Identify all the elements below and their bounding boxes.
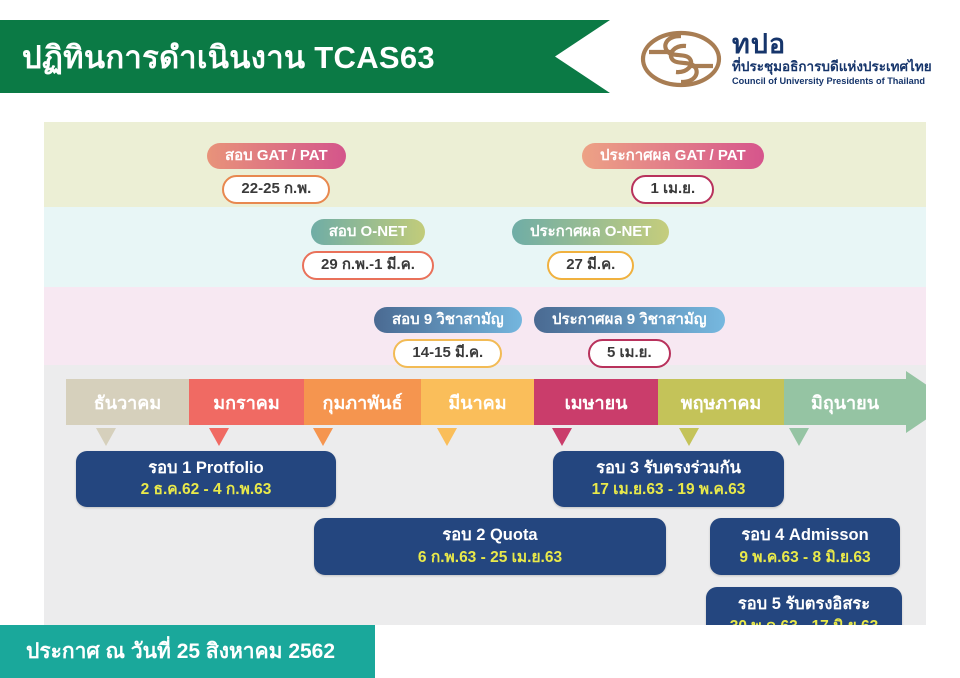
event-title: สอบ 9 วิชาสามัญ — [374, 307, 522, 333]
month-marker-january — [209, 428, 229, 446]
round-box-1[interactable]: รอบ 1 Protfolio 2 ธ.ค.62 - 4 ก.พ.63 — [76, 451, 336, 507]
band-gat-pat — [44, 122, 926, 207]
round-date: 30 พ.ค.63 - 17 มิ.ย.63 — [730, 617, 878, 625]
round-name: รอบ 4 Admisson — [741, 525, 868, 546]
month-label: กุมภาพันธ์ — [323, 388, 403, 417]
event-exam-nine-subjects[interactable]: สอบ 9 วิชาสามัญ 14-15 มี.ค. — [374, 307, 522, 368]
month-cell-april[interactable]: เมษายน — [534, 379, 658, 425]
round-box-2[interactable]: รอบ 2 Quota 6 ก.พ.63 - 25 เม.ย.63 — [314, 518, 666, 575]
event-title: ประกาศผล 9 วิชาสามัญ — [534, 307, 725, 333]
month-marker-february — [313, 428, 333, 446]
round-date: 17 เม.ย.63 - 19 พ.ค.63 — [592, 480, 746, 500]
event-result-nine-subjects[interactable]: ประกาศผล 9 วิชาสามัญ 5 เม.ย. — [534, 307, 725, 368]
month-cell-january[interactable]: มกราคม — [189, 379, 304, 425]
round-box-3[interactable]: รอบ 3 รับตรงร่วมกัน 17 เม.ย.63 - 19 พ.ค.… — [553, 451, 784, 507]
timeline-arrow-tip-icon — [906, 371, 926, 433]
month-marker-april — [552, 428, 572, 446]
logo-english-name: Council of University Presidents of Thai… — [732, 76, 932, 87]
cupt-knot-logo-icon — [640, 28, 722, 90]
event-exam-gat-pat[interactable]: สอบ GAT / PAT 22-25 ก.พ. — [207, 143, 346, 204]
month-marker-june — [789, 428, 809, 446]
month-marker-march — [437, 428, 457, 446]
event-result-onet[interactable]: ประกาศผล O-NET 27 มี.ค. — [512, 219, 669, 280]
round-name: รอบ 2 Quota — [442, 525, 537, 546]
round-name: รอบ 3 รับตรงร่วมกัน — [596, 458, 741, 479]
event-date: 1 เม.ย. — [631, 175, 714, 204]
month-label: มิถุนายน — [811, 388, 879, 417]
event-date: 29 ก.พ.-1 มี.ค. — [302, 251, 434, 280]
round-box-4[interactable]: รอบ 4 Admisson 9 พ.ค.63 - 8 มิ.ย.63 — [710, 518, 900, 575]
month-cell-march[interactable]: มีนาคม — [421, 379, 534, 425]
round-date: 9 พ.ค.63 - 8 มิ.ย.63 — [739, 548, 870, 568]
month-label: ธันวาคม — [94, 388, 161, 417]
band-onet — [44, 207, 926, 287]
month-label: มีนาคม — [448, 388, 506, 417]
event-date: 14-15 มี.ค. — [393, 339, 502, 368]
month-cell-february[interactable]: กุมภาพันธ์ — [304, 379, 421, 425]
month-cell-december[interactable]: ธันวาคม — [66, 379, 189, 425]
page-title: ปฏิทินการดำเนินงาน TCAS63 — [22, 32, 435, 82]
calendar-card: สอบ GAT / PAT 22-25 ก.พ. ประกาศผล GAT / … — [44, 122, 926, 625]
logo-text-block: ทปอ ที่ประชุมอธิการบดีแห่งประเทศไทย Coun… — [732, 31, 932, 88]
round-name: รอบ 1 Protfolio — [148, 458, 263, 479]
event-title: สอบ GAT / PAT — [207, 143, 346, 169]
month-label: เมษายน — [565, 388, 628, 417]
event-date: 5 เม.ย. — [588, 339, 671, 368]
logo-thai-name: ที่ประชุมอธิการบดีแห่งประเทศไทย — [732, 59, 932, 76]
event-title: สอบ O-NET — [311, 219, 426, 245]
logo-abbreviation: ทปอ — [732, 31, 932, 58]
event-title: ประกาศผล O-NET — [512, 219, 669, 245]
month-label: พฤษภาคม — [681, 388, 762, 417]
footer-banner: ประกาศ ณ วันที่ 25 สิงหาคม 2562 — [0, 625, 375, 678]
event-exam-onet[interactable]: สอบ O-NET 29 ก.พ.-1 มี.ค. — [302, 219, 434, 280]
round-date: 6 ก.พ.63 - 25 เม.ย.63 — [418, 548, 562, 568]
month-marker-may — [679, 428, 699, 446]
event-date: 27 มี.ค. — [547, 251, 634, 280]
cupt-logo: ทปอ ที่ประชุมอธิการบดีแห่งประเทศไทย Coun… — [640, 24, 940, 94]
month-label: มกราคม — [213, 388, 279, 417]
round-name: รอบ 5 รับตรงอิสระ — [738, 594, 870, 615]
month-marker-december — [96, 428, 116, 446]
event-result-gat-pat[interactable]: ประกาศผล GAT / PAT 1 เม.ย. — [582, 143, 764, 204]
round-date: 2 ธ.ค.62 - 4 ก.พ.63 — [141, 480, 272, 500]
round-box-5[interactable]: รอบ 5 รับตรงอิสระ 30 พ.ค.63 - 17 มิ.ย.63 — [706, 587, 902, 625]
month-timeline: ธันวาคม มกราคม กุมภาพันธ์ มีนาคม เมษายน … — [66, 379, 906, 425]
event-title: ประกาศผล GAT / PAT — [582, 143, 764, 169]
month-cell-june[interactable]: มิถุนายน — [784, 379, 906, 425]
event-date: 22-25 ก.พ. — [222, 175, 330, 204]
announcement-date: ประกาศ ณ วันที่ 25 สิงหาคม 2562 — [26, 635, 335, 668]
month-cell-may[interactable]: พฤษภาคม — [658, 379, 784, 425]
header-banner: ปฏิทินการดำเนินงาน TCAS63 — [0, 20, 610, 93]
